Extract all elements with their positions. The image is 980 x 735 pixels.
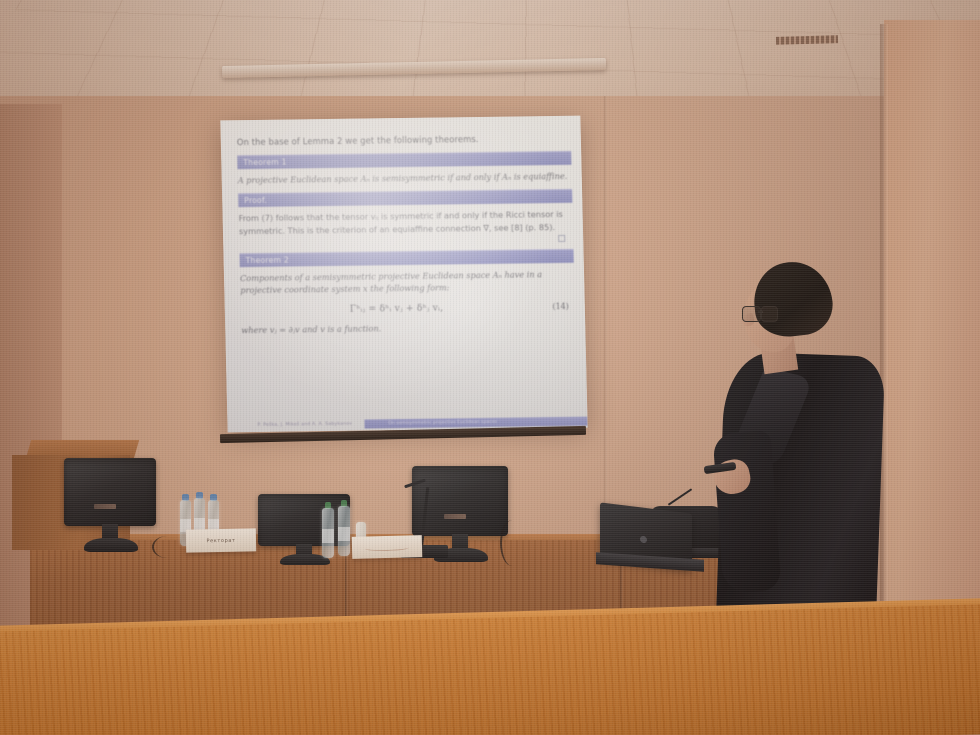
monitor-logo bbox=[94, 504, 116, 509]
wall-seam bbox=[604, 96, 607, 566]
presenter-hair bbox=[750, 258, 835, 340]
cable bbox=[500, 520, 524, 566]
equation-14-number: (14) bbox=[552, 302, 571, 311]
left-monitor bbox=[64, 458, 160, 558]
water-bottle bbox=[322, 502, 334, 558]
qed-box-icon bbox=[558, 235, 565, 242]
paper-scribble bbox=[365, 545, 410, 552]
projected-slide: On the base of Lemma 2 we get the follow… bbox=[220, 116, 587, 433]
monitor-logo-right bbox=[444, 514, 466, 519]
cable bbox=[152, 536, 182, 558]
theorem1-heading: Theorem 1 bbox=[237, 151, 571, 169]
slide-footer-authors: P. Peška, J. Mikeš and A. A. Sabykanov bbox=[227, 422, 352, 429]
water-bottle bbox=[338, 500, 350, 556]
lecture-hall-photo: On the base of Lemma 2 we get the follow… bbox=[0, 0, 980, 735]
ceiling-vent bbox=[776, 35, 838, 45]
projection-screen: On the base of Lemma 2 we get the follow… bbox=[220, 116, 587, 433]
equation-row: Γʰᵢⱼ = δʰᵢ vⱼ + δʰⱼ vᵢ, (14) bbox=[241, 301, 571, 315]
theorem2-heading: Theorem 2 bbox=[239, 249, 573, 267]
laptop-logo bbox=[640, 536, 647, 544]
nameplate-text: Ректорат bbox=[206, 537, 235, 544]
slide-intro-text: On the base of Lemma 2 we get the follow… bbox=[237, 132, 567, 149]
theorem2-closing: where vⱼ = ∂ⱼv and v is a function. bbox=[241, 319, 571, 336]
theorem1-body: A projective Euclidean space Aₙ is semis… bbox=[238, 170, 568, 187]
presenter-arm bbox=[712, 430, 781, 594]
equation-14: Γʰᵢⱼ = δʰᵢ vⱼ + δʰⱼ vᵢ, bbox=[241, 302, 553, 316]
proof-heading: Proof. bbox=[238, 189, 572, 207]
proof-body: From (7) follows that the tensor vᵢⱼ is … bbox=[239, 208, 570, 237]
theorem2-body: Components of a semisymmetric projective… bbox=[240, 268, 571, 297]
paper-card bbox=[352, 535, 423, 559]
nameplate-card: Ректорат bbox=[186, 528, 256, 552]
eyeglasses-icon bbox=[742, 306, 782, 321]
